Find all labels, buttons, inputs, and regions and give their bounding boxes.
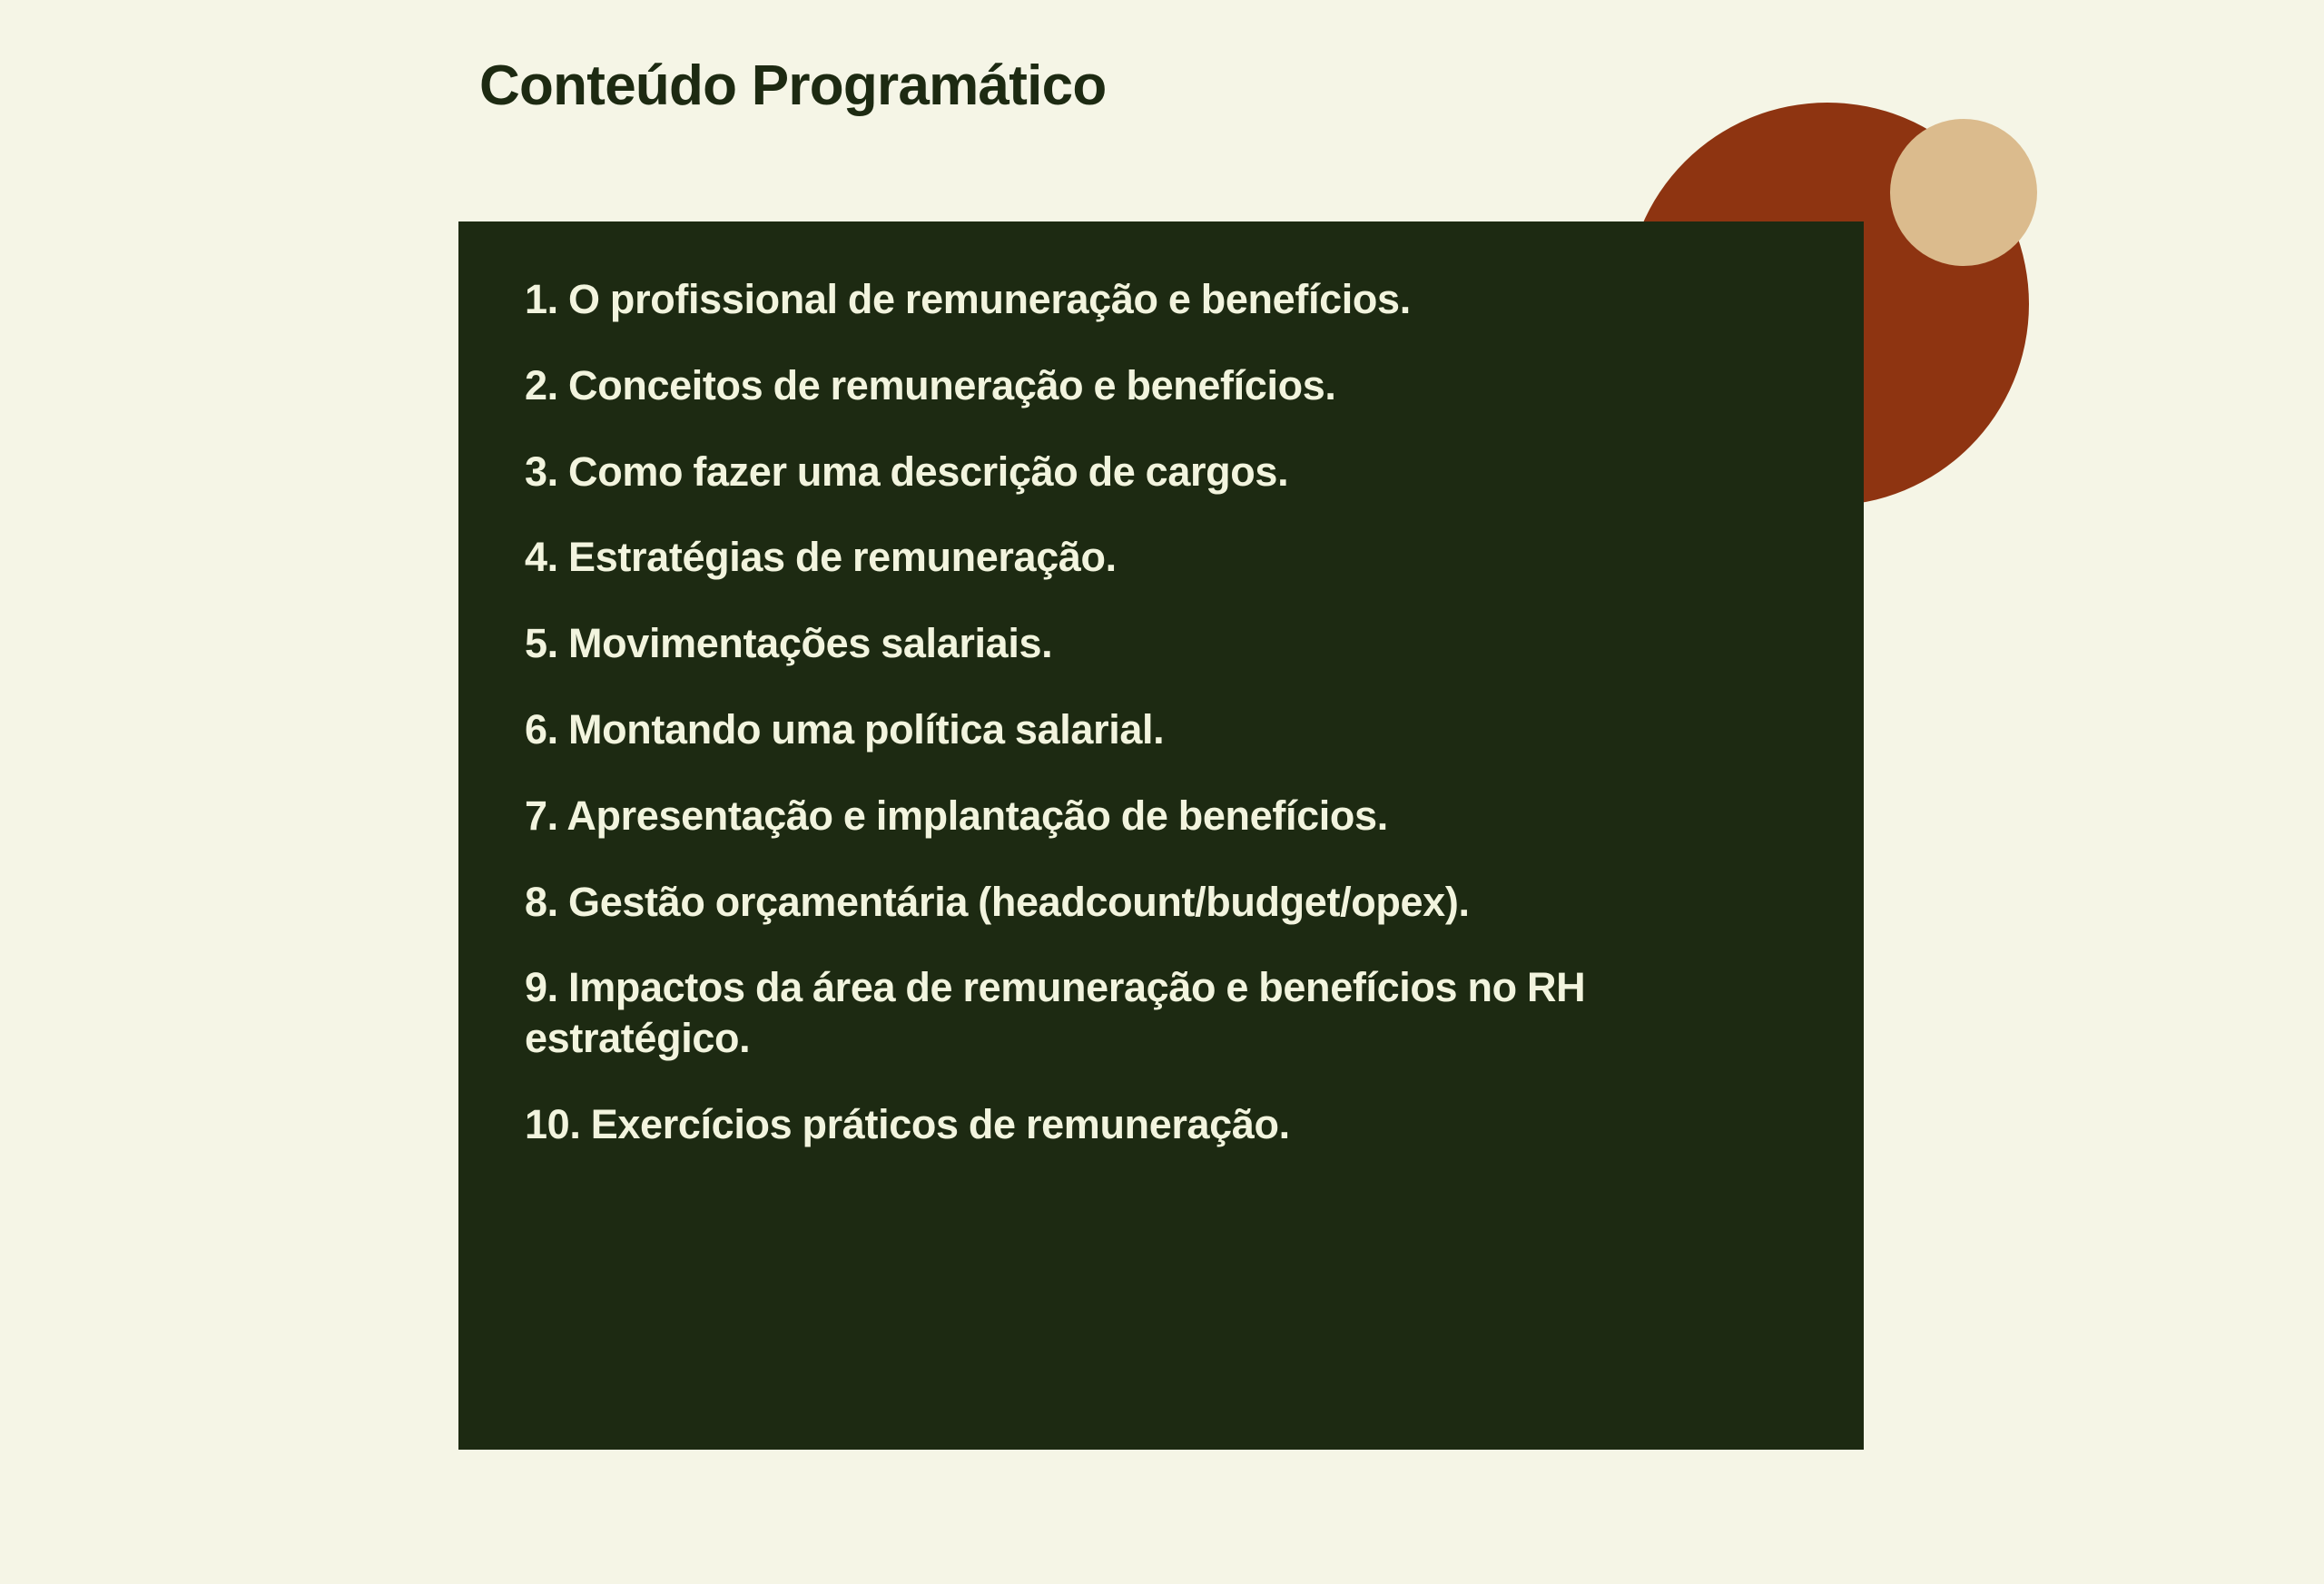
list-item: 7. Apresentação e implantação de benefíc… — [525, 791, 1714, 841]
list-item: 3. Como fazer uma descrição de cargos. — [525, 447, 1714, 497]
list-item: 1. O profissional de remuneração e benef… — [525, 274, 1714, 325]
list-item: 8. Gestão orçamentária (headcount/budget… — [525, 877, 1714, 928]
list-item: 5. Movimentações salariais. — [525, 618, 1714, 669]
list-item-text: 2. Conceitos de remuneração e benefícios… — [525, 362, 1336, 408]
list-item: 2. Conceitos de remuneração e benefícios… — [525, 360, 1714, 411]
list-item: 6. Montando uma política salarial. — [525, 704, 1714, 755]
syllabus-list: 1. O profissional de remuneração e benef… — [525, 274, 1800, 1150]
list-item-text: 9. Impactos da área de remuneração e ben… — [525, 964, 1585, 1061]
small-tan-circle-decoration — [1890, 119, 2037, 266]
list-item-text: 10. Exercícios práticos de remuneração. — [525, 1101, 1290, 1147]
list-item-text: 7. Apresentação e implantação de benefíc… — [525, 792, 1388, 839]
list-item-text: 8. Gestão orçamentária (headcount/budget… — [525, 879, 1470, 925]
list-item-text: 5. Movimentações salariais. — [525, 620, 1052, 666]
list-item-text: 6. Montando uma política salarial. — [525, 706, 1164, 753]
slide-canvas: Conteúdo Programático 1. O profissional … — [0, 0, 2324, 1584]
list-item-text: 4. Estratégias de remuneração. — [525, 534, 1117, 580]
list-item: 10. Exercícios práticos de remuneração. — [525, 1099, 1714, 1150]
page-title: Conteúdo Programático — [479, 56, 1107, 117]
syllabus-card: 1. O profissional de remuneração e benef… — [458, 221, 1864, 1450]
list-item-text: 1. O profissional de remuneração e benef… — [525, 276, 1411, 322]
list-item: 4. Estratégias de remuneração. — [525, 532, 1714, 583]
list-item-text: 3. Como fazer uma descrição de cargos. — [525, 448, 1288, 495]
list-item: 9. Impactos da área de remuneração e ben… — [525, 962, 1714, 1064]
